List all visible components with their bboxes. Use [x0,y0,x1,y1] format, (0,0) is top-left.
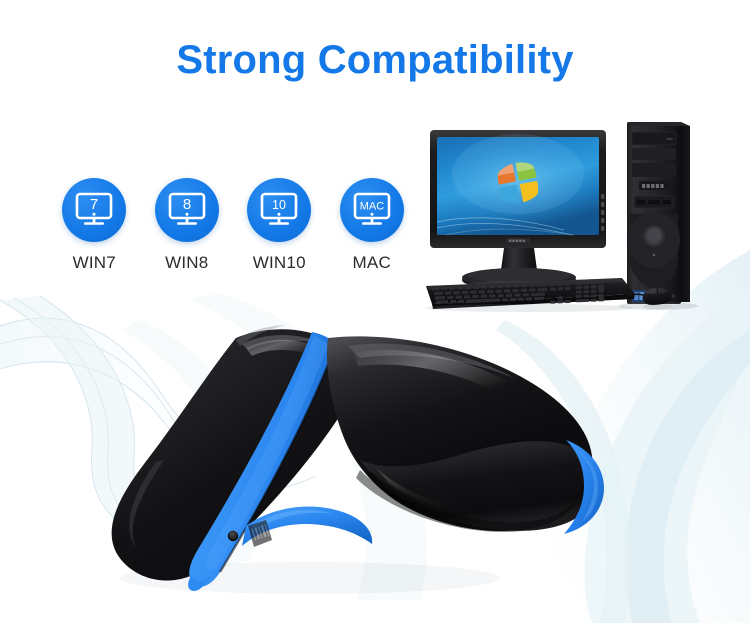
os-badge-circle: 10 [247,178,311,242]
monitor-icon: 10 [259,192,299,228]
os-badge-circle: 8 [155,178,219,242]
os-badge-circle: 7 [62,178,126,242]
page-title: Strong Compatibility [0,40,750,80]
product-compatibility-banner: { "headline": { "text": "Strong Compatib… [0,0,750,623]
scanner-detail-screw [228,531,238,541]
os-badge-win7[interactable]: 7 WIN7 [48,178,141,290]
os-compatibility-list: 7 WIN7 8 WIN8 10 WIN10 [48,178,418,290]
lcd-monitor [430,130,606,291]
monitor-icon: 8 [167,192,207,228]
os-badge-label: WIN10 [253,253,306,273]
os-badge-glyph: 10 [272,198,286,212]
os-badge-glyph: 7 [90,196,98,213]
monitor-icon: MAC [352,192,392,228]
os-badge-win8[interactable]: 8 WIN8 [141,178,234,290]
os-badge-label: WIN8 [165,253,208,273]
handheld-barcode-scanner [60,310,640,610]
os-badge-glyph: 8 [183,196,191,213]
pc-tower [618,122,698,310]
keyboard[interactable] [425,278,635,312]
os-badge-label: WIN7 [73,253,116,273]
monitor-stand [501,248,537,270]
os-badge-circle: MAC [340,178,404,242]
os-badge-glyph: MAC [360,201,385,213]
desktop-computer-illustration [424,118,724,328]
os-badge-mac[interactable]: MAC MAC [326,178,419,290]
os-badge-win10[interactable]: 10 WIN10 [233,178,326,290]
page-title-text: Strong Compatibility [176,40,573,80]
os-badge-label: MAC [353,253,391,273]
monitor-icon: 7 [74,192,114,228]
